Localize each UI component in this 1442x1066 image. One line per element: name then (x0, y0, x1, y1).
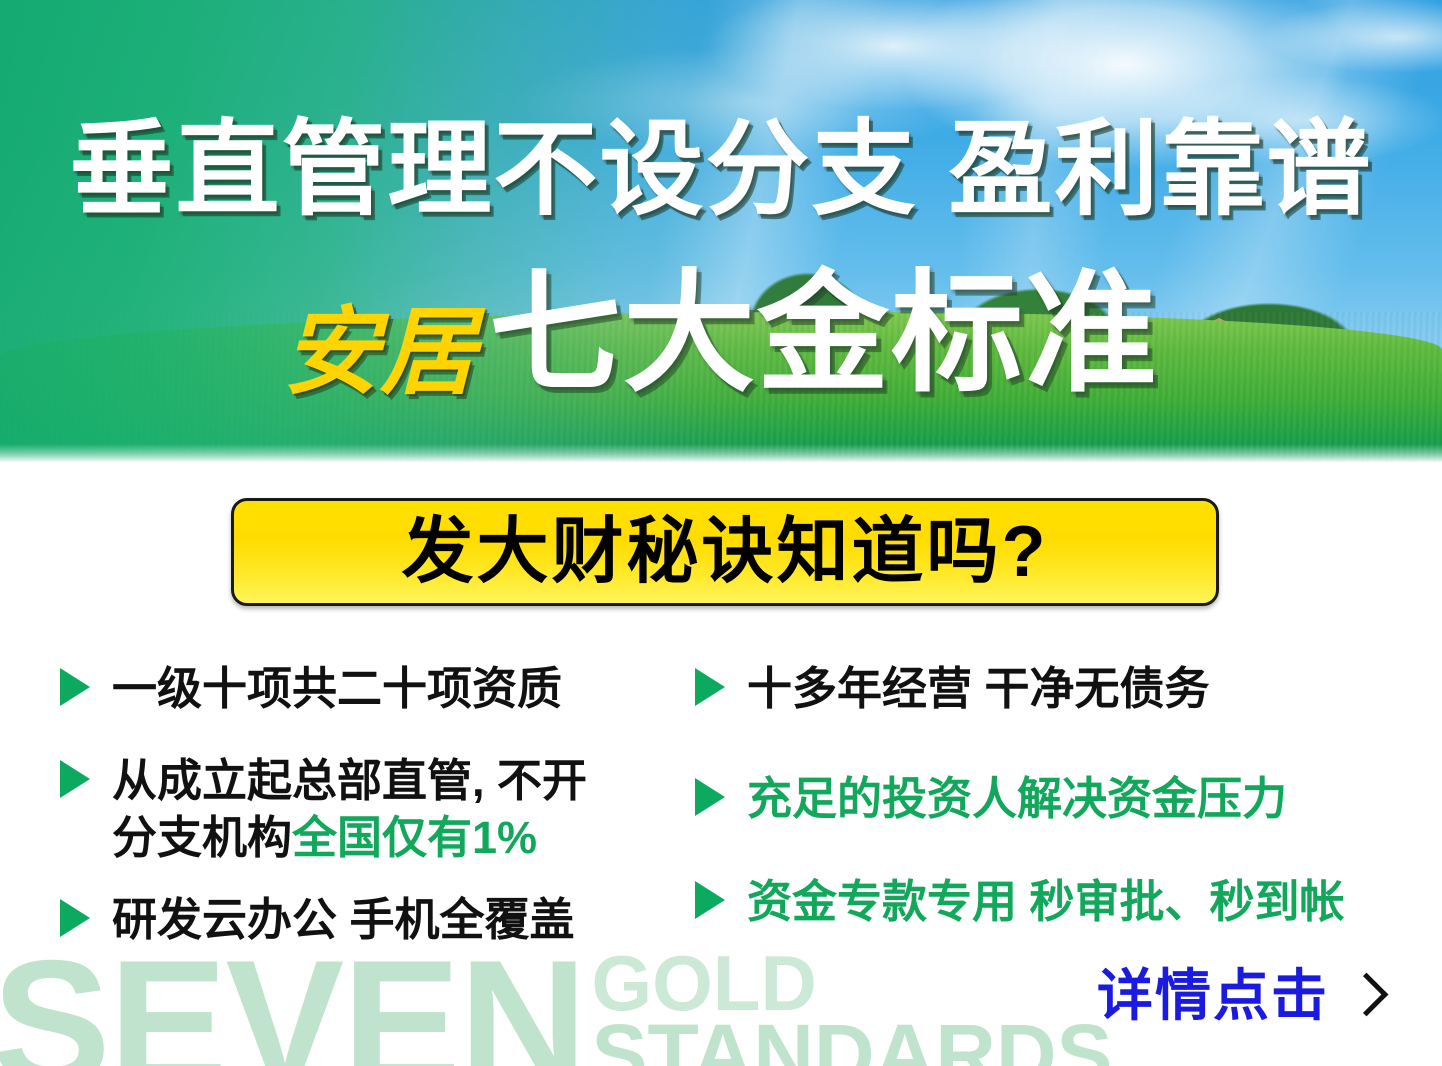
hero-headline-secondary: 七大金标准 (489, 260, 1159, 407)
feature-label-line1: 从成立起总部直管, 不开 (112, 755, 587, 806)
triangle-bullet-icon (60, 760, 90, 798)
feature-label: 充足的投资人解决资金压力 (747, 770, 1287, 828)
feature-label-line2-prefix: 分支机构 (112, 812, 292, 863)
feature-item-qualifications: 一级十项共二十项资质 (60, 660, 690, 718)
watermark-standards-text: STANDARDS (591, 1018, 1112, 1066)
feature-label-multiline: 从成立起总部直管, 不开 分支机构全国仅有1% (112, 752, 587, 867)
feature-label: 十多年经营 干净无债务 (747, 660, 1210, 718)
triangle-bullet-icon (695, 881, 725, 919)
detail-link-label: 详情点击 (1097, 968, 1329, 1024)
advertisement-banner: 垂直管理不设分支 盈利靠谱 安居七大金标准 发大财秘诀知道吗? 一级十项共二十项… (0, 0, 1442, 1066)
hero-headline-secondary-row: 安居七大金标准 (0, 268, 1442, 401)
detail-link-button[interactable]: 详情点击 (1097, 968, 1382, 1024)
feature-item-headquarters: 从成立起总部直管, 不开 分支机构全国仅有1% (60, 752, 690, 867)
feature-item-dedicated-funds: 资金专款专用 秒审批、秒到帐 (695, 873, 1415, 931)
feature-label: 一级十项共二十项资质 (112, 660, 562, 718)
chevron-right-icon (1345, 972, 1389, 1016)
hero-section: 垂直管理不设分支 盈利靠谱 安居七大金标准 (0, 0, 1442, 462)
brand-mark-label: 安居 (283, 299, 477, 406)
hero-bottom-fade (0, 444, 1442, 462)
feature-column-right: 十多年经营 干净无债务 充足的投资人解决资金压力 资金专款专用 秒审批、秒到帐 (695, 660, 1415, 957)
cta-question-text: 发大财秘诀知道吗? (402, 516, 1049, 588)
feature-label: 资金专款专用 秒审批、秒到帐 (747, 873, 1345, 931)
triangle-bullet-icon (60, 668, 90, 706)
feature-column-left: 一级十项共二十项资质 从成立起总部直管, 不开 分支机构全国仅有1% 研发云办公… (60, 660, 690, 974)
feature-label: 研发云办公 手机全覆盖 (112, 891, 575, 949)
feature-lists: 一级十项共二十项资质 从成立起总部直管, 不开 分支机构全国仅有1% 研发云办公… (0, 660, 1442, 990)
feature-label-line2-highlight: 全国仅有1% (292, 812, 537, 863)
cta-question-banner[interactable]: 发大财秘诀知道吗? (231, 498, 1219, 606)
triangle-bullet-icon (695, 668, 725, 706)
hero-headline-primary: 垂直管理不设分支 盈利靠谱 (0, 118, 1442, 222)
triangle-bullet-icon (695, 778, 725, 816)
feature-item-experience: 十多年经营 干净无债务 (695, 660, 1415, 718)
feature-item-cloud-office: 研发云办公 手机全覆盖 (60, 891, 690, 949)
feature-item-investors: 充足的投资人解决资金压力 (695, 770, 1415, 828)
triangle-bullet-icon (60, 899, 90, 937)
